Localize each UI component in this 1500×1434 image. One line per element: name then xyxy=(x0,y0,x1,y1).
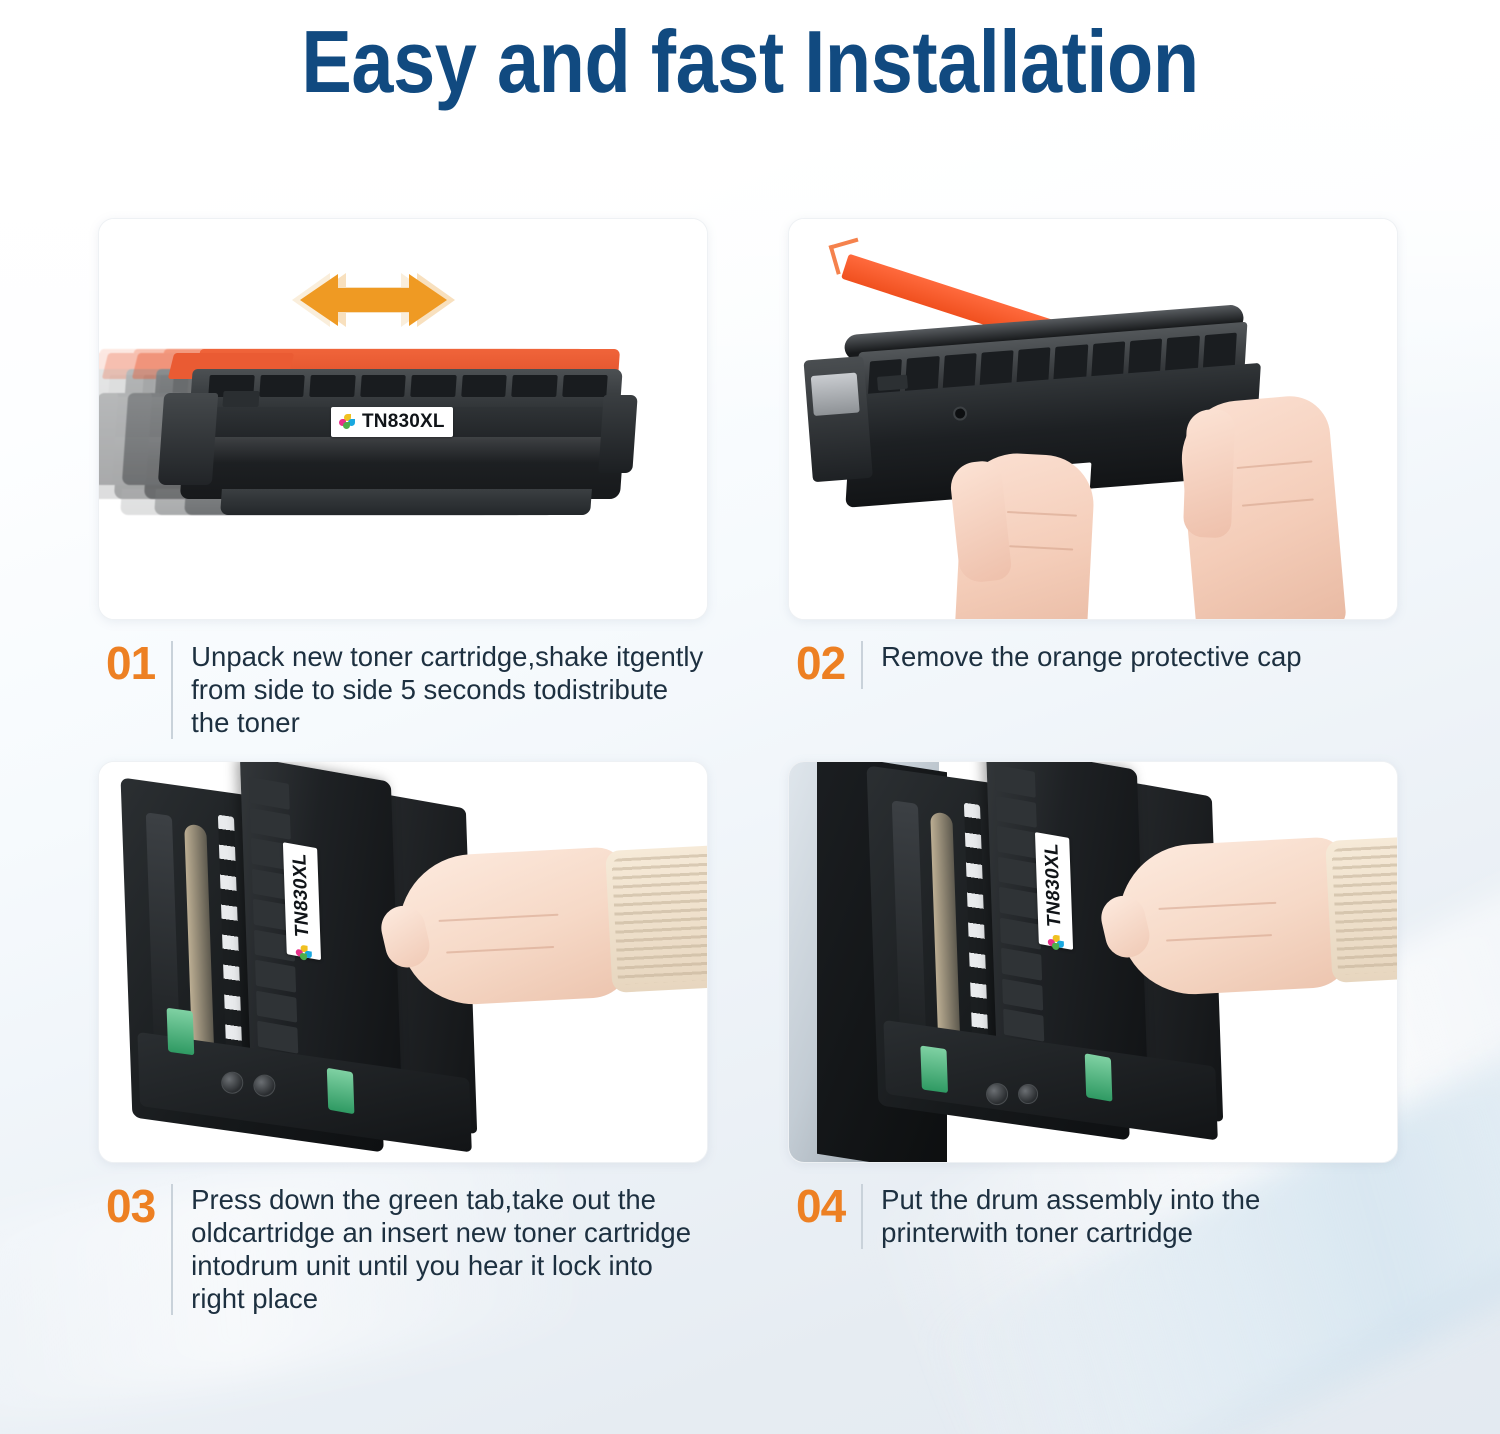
hand-icon xyxy=(395,846,633,1008)
green-tab[interactable] xyxy=(167,1008,195,1056)
caption-divider xyxy=(171,1184,173,1315)
step-01-caption: 01 Unpack new toner cartridge,shake itge… xyxy=(98,620,708,739)
step-02-photo: TN830XL xyxy=(789,219,1397,619)
ce-mark-icon xyxy=(877,375,908,391)
green-tab[interactable] xyxy=(327,1068,355,1115)
hand-icon xyxy=(954,451,1096,620)
cartridge-vents xyxy=(208,375,608,397)
caption-divider xyxy=(171,641,173,739)
caption-divider xyxy=(861,641,863,689)
hand-icon xyxy=(1177,393,1347,620)
step-03-photo: TN830XL xyxy=(99,762,707,1162)
step-04-image-card: TN830XL xyxy=(788,761,1398,1163)
step-03-number: 03 xyxy=(106,1181,155,1229)
step-02-caption: 02 Remove the orange protective cap xyxy=(788,620,1398,689)
product-model-text: TN830XL xyxy=(1041,841,1066,929)
hand-icon xyxy=(1115,836,1353,998)
green-tab[interactable] xyxy=(1085,1053,1113,1102)
product-model-text: TN830XL xyxy=(289,851,314,939)
step-04-caption: 04 Put the drum assembly into the printe… xyxy=(788,1163,1398,1249)
step-02-image-card: TN830XL xyxy=(788,218,1398,620)
green-tab[interactable] xyxy=(920,1045,948,1093)
step-01-text: Unpack new toner cartridge,shake itgentl… xyxy=(191,638,704,739)
step-03-caption: 03 Press down the green tab,take out the… xyxy=(98,1163,708,1315)
step-02: TN830XL 02 xyxy=(788,218,1398,739)
product-label: TN830XL xyxy=(283,842,321,960)
ce-mark-icon xyxy=(222,391,259,407)
step-04: TN830XL 04 Put the drum assembly into th… xyxy=(788,761,1398,1315)
product-label: TN830XL xyxy=(331,407,453,437)
step-04-number: 04 xyxy=(796,1181,845,1229)
toner-cartridge: TN830XL xyxy=(161,349,631,524)
steps-grid: TN830XL 01 Unpack new toner cartridge,sh… xyxy=(98,218,1408,1315)
sleeve-icon xyxy=(1325,835,1398,983)
step-01-photo: TN830XL xyxy=(99,219,707,619)
color-splash-logo-icon xyxy=(1047,934,1065,954)
step-04-text: Put the drum assembly into the printerwi… xyxy=(881,1181,1394,1249)
step-04-photo: TN830XL xyxy=(789,762,1397,1162)
sleeve-icon xyxy=(605,845,708,993)
page-title: Easy and fast Installation xyxy=(105,16,1395,108)
step-02-text: Remove the orange protective cap xyxy=(881,638,1394,673)
color-splash-logo-icon xyxy=(295,944,313,964)
double-arrow-icon xyxy=(274,269,489,331)
step-02-number: 02 xyxy=(796,638,845,686)
step-03-text: Press down the green tab,take out the ol… xyxy=(191,1181,704,1315)
product-label: TN830XL xyxy=(1035,832,1073,950)
page-background: Easy and fast Installation xyxy=(0,0,1500,1434)
product-model-text: TN830XL xyxy=(362,411,445,433)
step-03-image-card: TN830XL xyxy=(98,761,708,1163)
color-splash-logo-icon xyxy=(339,414,356,431)
caption-divider xyxy=(861,1184,863,1249)
step-01-number: 01 xyxy=(106,638,155,686)
step-01: TN830XL 01 Unpack new toner cartridge,sh… xyxy=(98,218,708,739)
step-03: TN830XL 03 Press down the green tab,take… xyxy=(98,761,708,1315)
step-01-image-card: TN830XL xyxy=(98,218,708,620)
